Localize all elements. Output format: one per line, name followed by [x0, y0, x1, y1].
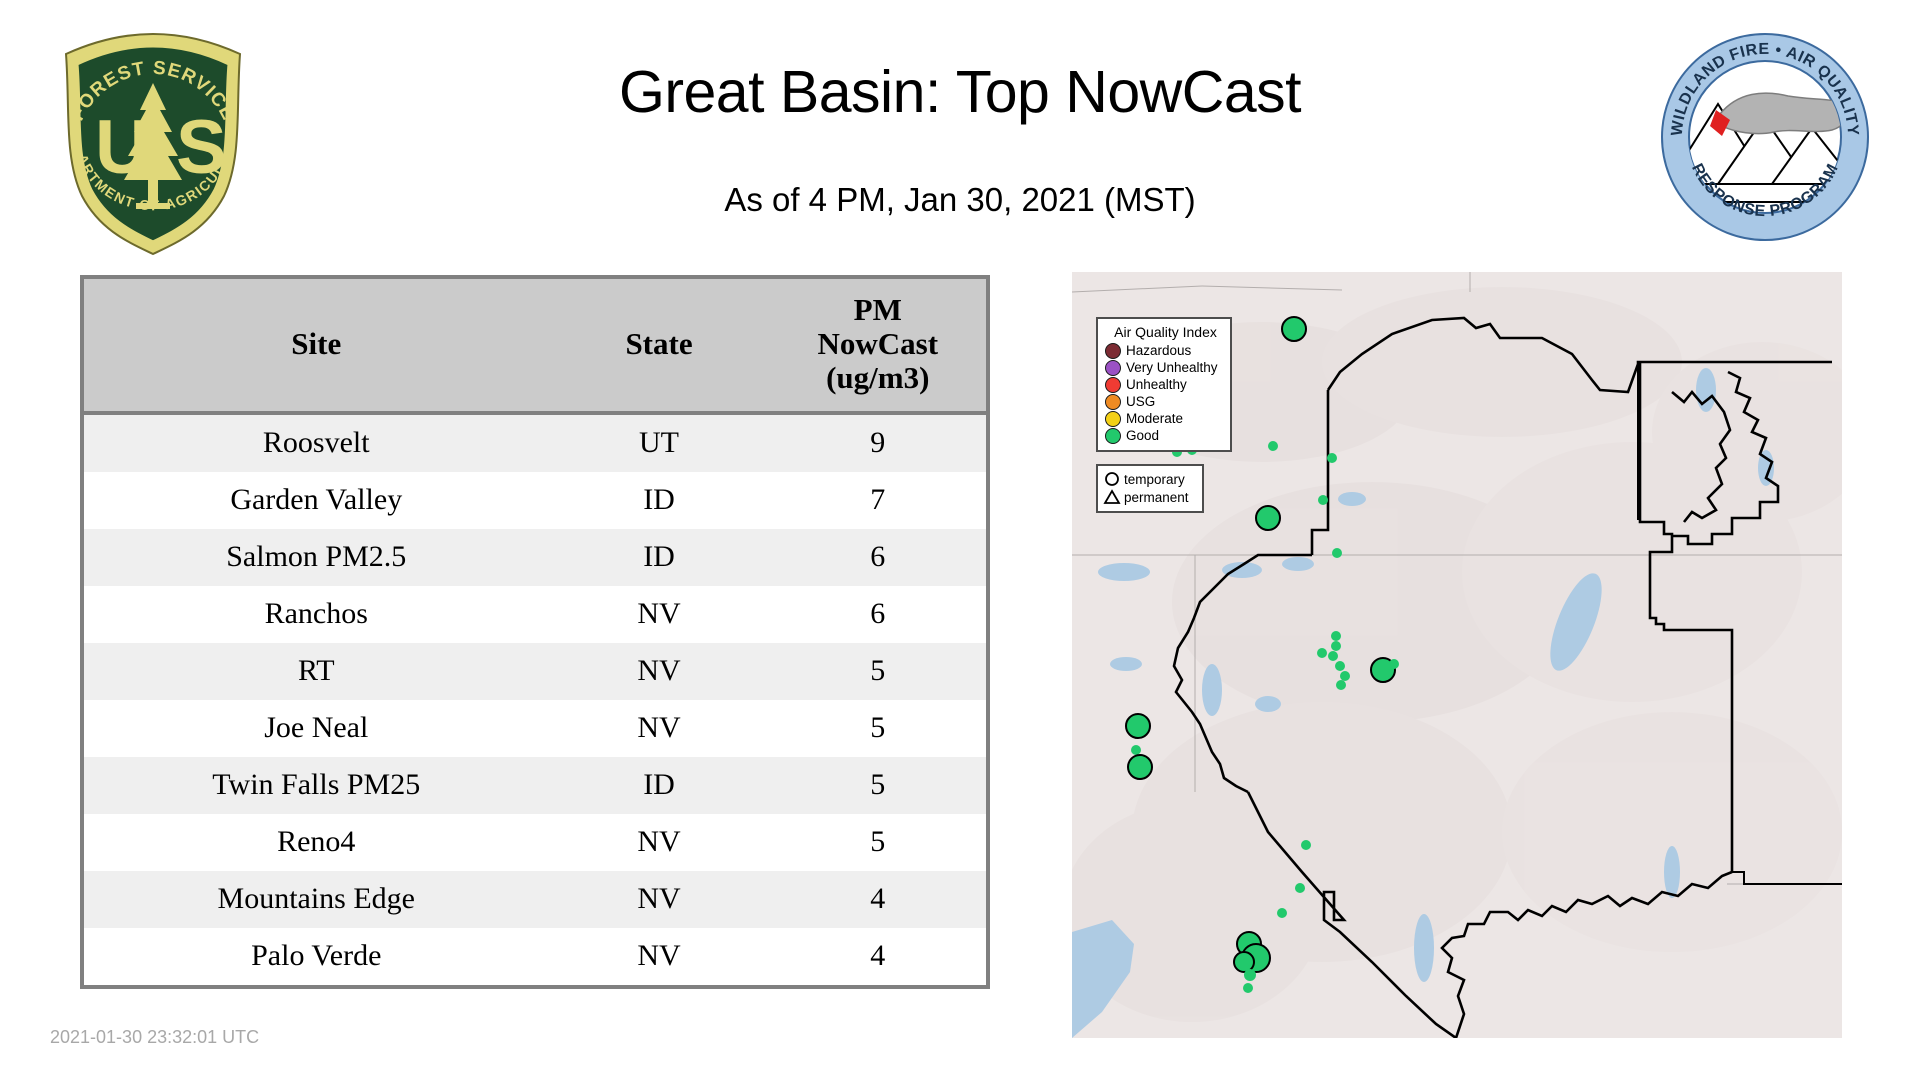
state-cell: NV [549, 871, 770, 928]
table-row: Joe NealNV5 [84, 700, 986, 757]
state-cell: ID [549, 757, 770, 814]
state-cell: NV [549, 700, 770, 757]
symbol-legend-label-temporary: temporary [1124, 472, 1185, 487]
symbol-legend-label-permanent: permanent [1124, 490, 1189, 505]
aqi-legend-label: Moderate [1126, 412, 1183, 426]
aqi-legend-swatch-icon [1105, 343, 1121, 359]
table-row: RanchosNV6 [84, 586, 986, 643]
column-header-pm-line2: NowCast [770, 327, 986, 361]
aqi-legend-row: Very Unhealthy [1105, 359, 1224, 376]
monitor-marker[interactable] [1301, 840, 1311, 850]
aqi-legend-row: USG [1105, 393, 1224, 410]
aqi-legend-rows: HazardousVery UnhealthyUnhealthyUSGModer… [1105, 342, 1224, 444]
monitor-marker[interactable] [1268, 441, 1278, 451]
column-header-pm-line3: (ug/m3) [770, 361, 986, 395]
monitor-marker[interactable] [1234, 952, 1254, 972]
site-cell: Reno4 [84, 814, 549, 871]
page-title: Great Basin: Top NowCast [0, 58, 1920, 126]
monitor-marker[interactable] [1328, 651, 1338, 661]
site-cell: Twin Falls PM25 [84, 757, 549, 814]
circle-icon [1103, 471, 1121, 487]
site-cell: Salmon PM2.5 [84, 529, 549, 586]
monitor-marker[interactable] [1332, 548, 1342, 558]
table-row: Reno4NV5 [84, 814, 986, 871]
pm-nowcast-cell: 9 [770, 413, 986, 472]
aqi-legend-label: Very Unhealthy [1126, 361, 1218, 375]
table-row: Mountains EdgeNV4 [84, 871, 986, 928]
monitor-marker[interactable] [1389, 659, 1399, 669]
table-header-row: Site State PM NowCast (ug/m3) [84, 279, 986, 413]
site-cell: Ranchos [84, 586, 549, 643]
symbol-legend-row-temporary: temporary [1103, 470, 1197, 488]
pm-nowcast-cell: 4 [770, 928, 986, 985]
site-cell: Joe Neal [84, 700, 549, 757]
pm-nowcast-cell: 6 [770, 529, 986, 586]
monitor-marker[interactable] [1243, 983, 1253, 993]
aqi-legend: Air Quality Index HazardousVery Unhealth… [1096, 317, 1232, 452]
pm-nowcast-cell: 5 [770, 700, 986, 757]
site-cell: Palo Verde [84, 928, 549, 985]
monitor-marker[interactable] [1126, 714, 1150, 738]
aqi-legend-label: Unhealthy [1126, 378, 1187, 392]
table-body: RoosveltUT9Garden ValleyID7Salmon PM2.5I… [84, 413, 986, 985]
table-row: Twin Falls PM25ID5 [84, 757, 986, 814]
state-cell: ID [549, 529, 770, 586]
aqi-legend-row: Moderate [1105, 410, 1224, 427]
monitor-marker[interactable] [1331, 641, 1341, 651]
column-header-pm-nowcast: PM NowCast (ug/m3) [770, 279, 986, 413]
aqi-legend-row: Hazardous [1105, 342, 1224, 359]
monitor-marker[interactable] [1256, 506, 1280, 530]
state-cell: UT [549, 413, 770, 472]
pm-nowcast-cell: 5 [770, 757, 986, 814]
column-header-site: Site [84, 279, 549, 413]
monitor-marker[interactable] [1317, 648, 1327, 658]
aqi-legend-swatch-icon [1105, 411, 1121, 427]
monitor-marker[interactable] [1128, 755, 1152, 779]
aqi-legend-row: Good [1105, 427, 1224, 444]
monitor-marker[interactable] [1277, 908, 1287, 918]
pm-nowcast-cell: 7 [770, 472, 986, 529]
monitor-marker[interactable] [1318, 495, 1328, 505]
footer-timestamp: 2021-01-30 23:32:01 UTC [50, 1027, 259, 1048]
air-quality-map[interactable]: Air Quality Index HazardousVery Unhealth… [1072, 272, 1842, 1038]
site-cell: Roosvelt [84, 413, 549, 472]
aqi-legend-swatch-icon [1105, 360, 1121, 376]
aqi-legend-swatch-icon [1105, 394, 1121, 410]
state-cell: NV [549, 643, 770, 700]
monitor-marker[interactable] [1327, 453, 1337, 463]
monitor-marker[interactable] [1331, 631, 1341, 641]
aqi-legend-swatch-icon [1105, 377, 1121, 393]
monitor-marker[interactable] [1335, 661, 1345, 671]
monitor-marker[interactable] [1244, 969, 1256, 981]
column-header-pm-line1: PM [770, 293, 986, 327]
site-cell: Garden Valley [84, 472, 549, 529]
nowcast-table-panel: Site State PM NowCast (ug/m3) RoosveltUT… [80, 275, 990, 989]
pm-nowcast-cell: 5 [770, 643, 986, 700]
table-row: RTNV5 [84, 643, 986, 700]
site-cell: RT [84, 643, 549, 700]
monitor-marker[interactable] [1131, 745, 1141, 755]
table-row: RoosveltUT9 [84, 413, 986, 472]
aqi-legend-label: Good [1126, 429, 1159, 443]
table-row: Salmon PM2.5ID6 [84, 529, 986, 586]
symbol-legend: temporary permanent [1096, 464, 1204, 513]
pm-nowcast-cell: 6 [770, 586, 986, 643]
column-header-state: State [549, 279, 770, 413]
aqi-legend-title: Air Quality Index [1107, 324, 1224, 340]
pm-nowcast-cell: 4 [770, 871, 986, 928]
triangle-icon [1103, 489, 1121, 505]
table-header: Site State PM NowCast (ug/m3) [84, 279, 986, 413]
nowcast-table: Site State PM NowCast (ug/m3) RoosveltUT… [84, 279, 986, 985]
table-row: Garden ValleyID7 [84, 472, 986, 529]
table-row: Palo VerdeNV4 [84, 928, 986, 985]
state-cell: NV [549, 814, 770, 871]
monitor-marker[interactable] [1340, 671, 1350, 681]
aqi-legend-row: Unhealthy [1105, 376, 1224, 393]
page-subtitle: As of 4 PM, Jan 30, 2021 (MST) [0, 180, 1920, 220]
monitor-marker[interactable] [1295, 883, 1305, 893]
symbol-legend-row-permanent: permanent [1103, 488, 1197, 506]
monitor-marker[interactable] [1282, 317, 1306, 341]
aqi-legend-label: Hazardous [1126, 344, 1191, 358]
aqi-legend-label: USG [1126, 395, 1155, 409]
state-cell: NV [549, 586, 770, 643]
aqi-legend-swatch-icon [1105, 428, 1121, 444]
state-cell: ID [549, 472, 770, 529]
state-cell: NV [549, 928, 770, 985]
monitor-marker[interactable] [1336, 680, 1346, 690]
pm-nowcast-cell: 5 [770, 814, 986, 871]
site-cell: Mountains Edge [84, 871, 549, 928]
